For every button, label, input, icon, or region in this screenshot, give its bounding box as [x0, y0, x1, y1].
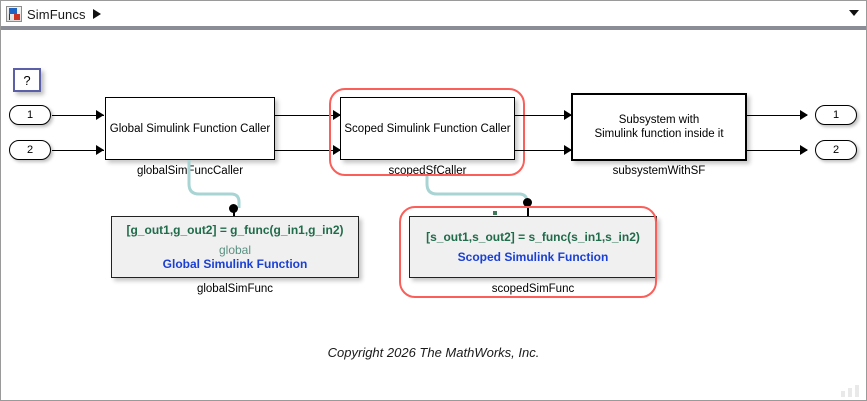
block-global-sim-func-caller-text: Global Simulink Function Caller [110, 122, 270, 136]
block-global-sim-func-caller[interactable]: Global Simulink Function Caller [105, 97, 275, 160]
chevron-down-icon[interactable] [849, 10, 859, 16]
outport-1[interactable]: 1 [815, 105, 857, 125]
signal-line-g2s-1[interactable] [275, 115, 341, 116]
outport-2-label: 2 [833, 144, 839, 156]
function-call-wire-scoped[interactable] [425, 176, 535, 208]
help-annotation-text: ? [23, 73, 30, 88]
inport-1-label: 1 [27, 109, 33, 121]
inport-1[interactable]: 1 [9, 105, 51, 125]
caret-right-icon[interactable] [93, 9, 101, 19]
block-scoped-sim-func[interactable]: [s_out1,s_out2] = s_func(s_in1,s_in2) Sc… [409, 216, 657, 278]
breadcrumb-model-name[interactable]: SimFuncs [27, 7, 86, 22]
block-subsystem-with-sf[interactable]: Subsystem with Simulink function inside … [571, 93, 747, 161]
global-sim-func-title: Global Simulink Function [163, 257, 308, 271]
copyright-text: Copyright 2026 The MathWorks, Inc. [1, 345, 866, 360]
signal-line-out2[interactable] [747, 150, 807, 151]
signal-arrow-in1 [96, 110, 104, 120]
block-global-sim-func-name: globalSimFunc [111, 283, 359, 295]
signal-line-g2s-2[interactable] [275, 150, 341, 151]
simulink-model-icon [6, 6, 22, 22]
block-scoped-sf-caller[interactable]: Scoped Simulink Function Caller [340, 97, 515, 160]
help-annotation-block[interactable]: ? [13, 68, 41, 92]
scoped-sim-func-port-marker [493, 211, 497, 215]
scoped-sim-func-signature: [s_out1,s_out2] = s_func(s_in1,s_in2) [426, 230, 640, 244]
signal-arrow-in2 [96, 145, 104, 155]
simulink-editor-window: SimFuncs ? 1 2 Global Simulink Function … [0, 0, 867, 401]
global-sim-func-scope: global [219, 243, 251, 257]
scoped-sim-func-title: Scoped Simulink Function [458, 250, 609, 264]
global-sim-func-signature: [g_out1,g_out2] = g_func(g_in1,g_in2) [126, 223, 343, 237]
block-scoped-sim-func-name: scopedSimFunc [409, 283, 657, 295]
signal-line-out1[interactable] [747, 115, 807, 116]
block-scoped-sf-caller-text: Scoped Simulink Function Caller [344, 122, 510, 136]
outport-1-label: 1 [833, 109, 839, 121]
block-subsystem-with-sf-text-line1: Subsystem with [619, 113, 700, 127]
block-subsystem-with-sf-name: subsystemWithSF [571, 165, 747, 177]
function-call-wire-global[interactable] [187, 160, 247, 208]
signal-arrow-out2 [800, 145, 808, 155]
function-call-junction-scoped [523, 198, 532, 207]
function-call-junction-global [229, 204, 238, 213]
breadcrumb[interactable]: SimFuncs [6, 4, 101, 24]
inport-2[interactable]: 2 [9, 140, 51, 160]
block-global-sim-func[interactable]: [g_out1,g_out2] = g_func(g_in1,g_in2) gl… [111, 216, 359, 278]
inport-2-label: 2 [27, 144, 33, 156]
signal-arrow-out1 [800, 110, 808, 120]
block-subsystem-with-sf-text-line2: Simulink function inside it [594, 127, 723, 141]
outport-2[interactable]: 2 [815, 140, 857, 160]
breadcrumb-bar: SimFuncs [1, 1, 867, 26]
model-canvas[interactable]: ? 1 2 Global Simulink Function Caller gl… [1, 30, 866, 400]
resize-grip-icon[interactable] [841, 383, 863, 397]
